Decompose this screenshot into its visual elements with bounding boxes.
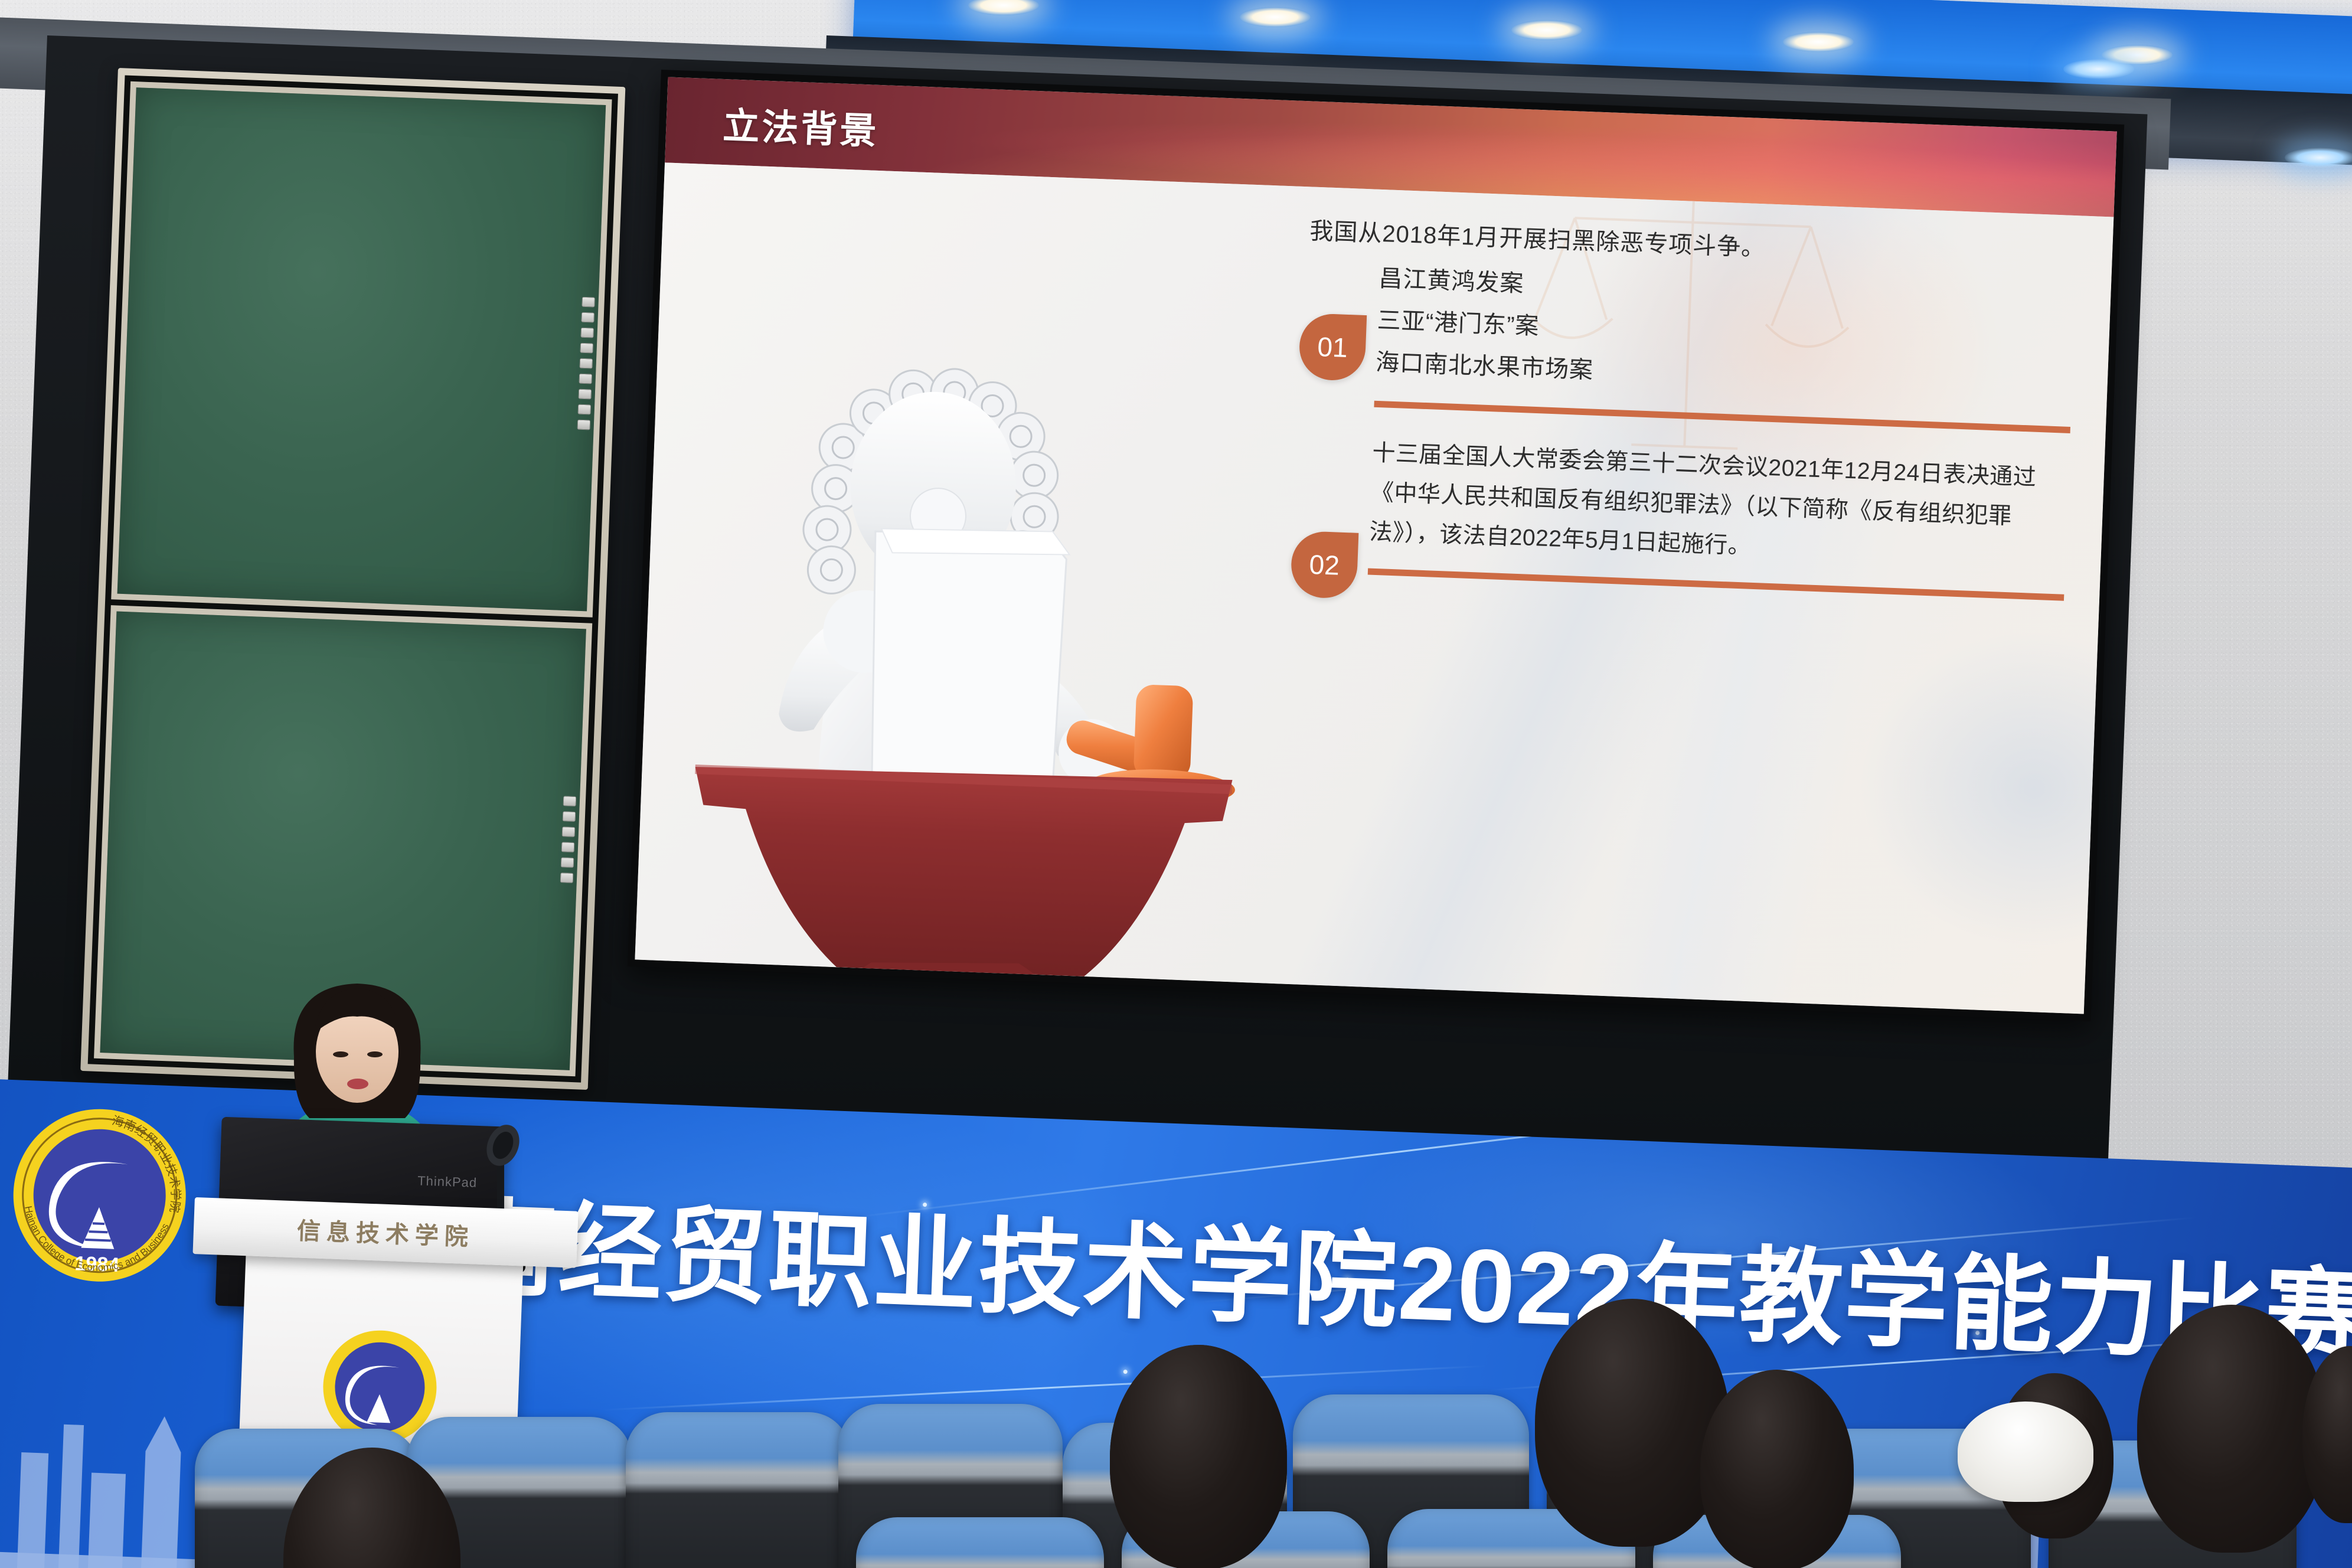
board-function-button[interactable] — [563, 811, 576, 822]
board-function-button[interactable] — [580, 328, 594, 338]
audience-head — [2137, 1305, 2326, 1553]
ceiling-downlight — [1511, 20, 1582, 40]
board-function-button[interactable] — [577, 420, 591, 430]
slide: 立法背景 — [635, 77, 2116, 1014]
ceiling-downlight-blue — [2285, 148, 2352, 168]
ceiling-downlight — [1240, 7, 1311, 27]
slide-item-01-lines: 昌江黄鸿发案 三亚“港门东”案 海口南北水果市场案 — [1375, 258, 2076, 410]
audience-white-cap — [1958, 1402, 2093, 1502]
board-function-button[interactable] — [560, 873, 574, 883]
item-number-badge: 01 — [1298, 313, 1367, 381]
ceiling-downlight — [1783, 32, 1854, 52]
audience-head — [1700, 1370, 1854, 1568]
board-function-button[interactable] — [563, 796, 577, 806]
slide-item-02: 02 十三届全国人大常委会第三十二次会议2021年12月24日表决通过《中华人民… — [1297, 430, 2069, 601]
board-function-button[interactable] — [578, 404, 592, 415]
board-function-button[interactable] — [579, 389, 592, 400]
chalkboard-inner — [88, 75, 618, 1082]
board-function-button[interactable] — [579, 374, 592, 384]
chalkboard-panel-top — [111, 81, 612, 618]
podium-sign-label: 信息技术学院 — [193, 1208, 578, 1256]
chalkboard — [80, 68, 625, 1090]
audience-head — [1535, 1299, 1730, 1547]
chalkboard-button-strip-lower[interactable] — [560, 796, 576, 883]
slide-text-column: 我国从2018年1月开展扫黑除恶专项斗争。 01 昌江黄鸿发案 三亚“港门东”案… — [1296, 210, 2077, 606]
board-function-button[interactable] — [562, 827, 576, 837]
chalkboard-button-strip[interactable] — [577, 297, 595, 430]
slide-item-01: 01 昌江黄鸿发案 三亚“港门东”案 海口南北水果市场案 — [1304, 255, 2076, 433]
board-function-button[interactable] — [579, 358, 593, 369]
board-function-button[interactable] — [561, 842, 575, 852]
slide-body: 我国从2018年1月开展扫黑除恶专项斗争。 01 昌江黄鸿发案 三亚“港门东”案… — [635, 162, 2113, 1014]
auditorium-seat — [626, 1412, 850, 1568]
board-function-button[interactable] — [582, 297, 595, 308]
auditorium-seat — [856, 1517, 1104, 1568]
slide-item-paragraph: 十三届全国人大常委会第三十二次会议2021年12月24日表决通过《中华人民共和国… — [1368, 433, 2069, 577]
projection-screen: 立法背景 — [628, 70, 2124, 1021]
item-number-badge: 02 — [1290, 530, 1358, 599]
board-function-button[interactable] — [581, 312, 594, 323]
slide-title: 立法背景 — [722, 96, 880, 155]
judge-with-gavel-illustration — [676, 330, 1260, 988]
college-emblem: 1984 海南经贸职业技术学院 Hainan College of Econom… — [8, 1103, 191, 1287]
lecture-hall-photo: 立法背景 — [0, 0, 2352, 1568]
ceiling-downlight-blue — [2063, 59, 2134, 79]
audience-head — [1110, 1345, 1287, 1568]
board-function-button[interactable] — [561, 857, 574, 868]
board-function-button[interactable] — [580, 343, 593, 354]
